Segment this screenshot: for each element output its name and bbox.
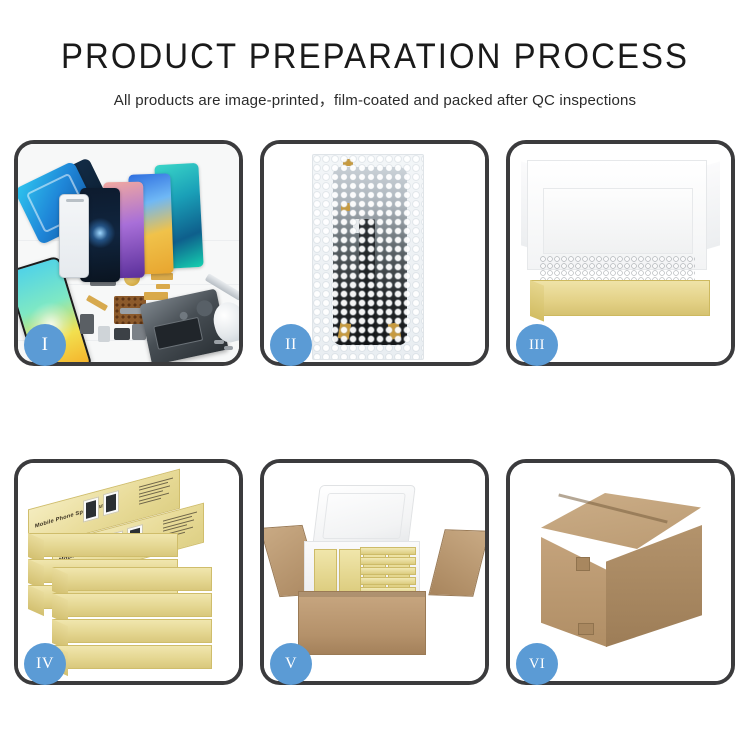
wrapped-screen-assembly <box>333 167 407 345</box>
yellow-box-front-panel <box>530 280 710 316</box>
styrofoam-lid <box>312 485 416 547</box>
step-badge-5: V <box>270 643 312 685</box>
process-step-grid: I II I <box>14 140 736 692</box>
carton-body <box>298 591 426 655</box>
screw-part-a <box>214 340 224 344</box>
step-badge-2: II <box>270 324 312 366</box>
yellow-boxes-horizontal <box>360 547 416 593</box>
speaker-part <box>114 328 130 340</box>
box-lid-spec-lines-top <box>139 478 173 507</box>
process-step-card-4[interactable]: Mobile Phone Spare Parts Mobile Phone Sp… <box>14 459 243 685</box>
carton-tape-upper <box>576 557 590 571</box>
process-step-card-1[interactable]: I <box>14 140 243 366</box>
process-step-card-6[interactable]: VI <box>506 459 735 685</box>
step-badge-3: III <box>516 324 558 366</box>
box-stack: Mobile Phone Spare Parts Mobile Phone Sp… <box>24 481 236 671</box>
gold-tab-bottom-left <box>338 322 352 340</box>
process-step-card-2[interactable]: II <box>260 140 489 366</box>
flex-cable-part-b <box>156 284 170 289</box>
grey-bubble-padding <box>540 256 695 282</box>
process-step-card-3[interactable]: III <box>506 140 735 366</box>
gold-tab-mid <box>341 203 350 211</box>
step-badge-4: IV <box>24 643 66 685</box>
screen-glass-panel <box>59 194 89 278</box>
page-subtitle: All products are image-printed，film-coat… <box>4 88 747 110</box>
step-badge-1: I <box>24 324 66 366</box>
antenna-strip-part <box>120 308 142 314</box>
page-header: PRODUCT PREPARATION PROCESS All products… <box>0 0 750 110</box>
white-foam-sheet <box>543 188 693 254</box>
process-step-card-5[interactable]: V <box>260 459 489 685</box>
page-title: PRODUCT PREPARATION PROCESS <box>23 36 728 78</box>
gold-tab-bottom-right <box>388 322 402 340</box>
screw-part-b <box>224 346 233 350</box>
camera-module-part <box>80 314 94 334</box>
flex-cable-part-a <box>151 273 173 280</box>
step-badge-6: VI <box>516 643 558 685</box>
bubble-wrap-bag <box>312 154 424 360</box>
carton-tape-lower <box>578 623 594 635</box>
sim-tray-part <box>98 326 110 342</box>
gold-tab-top <box>343 159 353 166</box>
